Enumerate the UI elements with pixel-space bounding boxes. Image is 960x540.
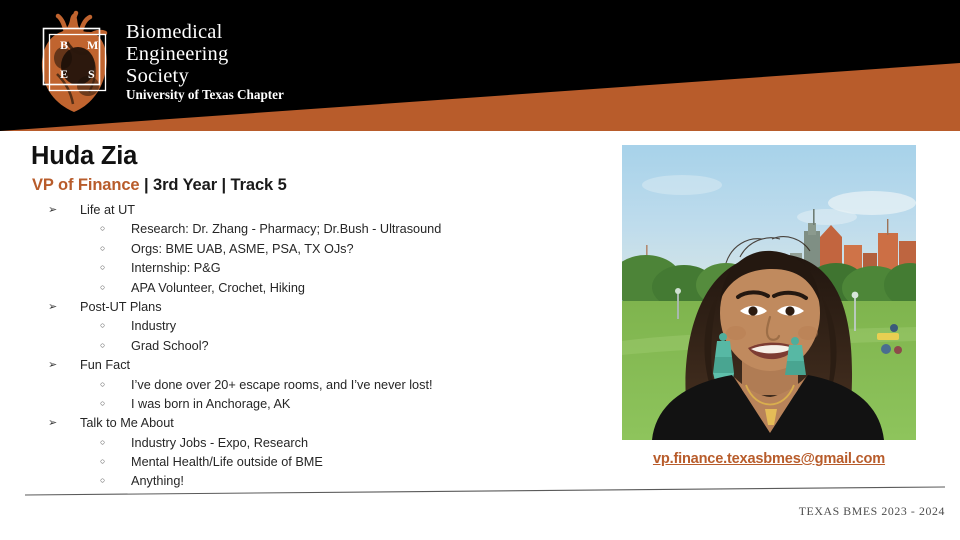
circle-bullet-icon: ○ [100, 282, 131, 292]
list-item-label: Post-UT Plans [80, 300, 162, 314]
anatomical-heart-logo-icon: B M E S [33, 8, 115, 120]
list-item-label: I was born in Anchorage, AK [131, 397, 290, 411]
bmes-logo: B M E S Biomedical Engineering Society U… [33, 8, 323, 120]
list-item: ○ Internship: P&G [48, 261, 588, 280]
circle-bullet-icon: ○ [100, 262, 131, 272]
list-item: ➢ Fun Fact [48, 358, 588, 377]
logo-letter-m: M [87, 38, 98, 52]
list-item-label: Talk to Me About [80, 416, 174, 430]
circle-bullet-icon: ○ [100, 456, 131, 466]
header-band: B M E S Biomedical Engineering Society U… [0, 0, 960, 131]
list-item: ○ Grad School? [48, 339, 588, 358]
circle-bullet-icon: ○ [100, 398, 131, 408]
circle-bullet-icon: ○ [100, 379, 131, 389]
bullet-list: ➢ Life at UT ○ Research: Dr. Zhang - Pha… [48, 203, 588, 494]
circle-bullet-icon: ○ [100, 340, 131, 350]
logo-line-3: Society [126, 65, 284, 87]
list-item-label: Orgs: BME UAB, ASME, PSA, TX OJs? [131, 242, 354, 256]
circle-bullet-icon: ○ [100, 243, 131, 253]
list-item: ○ I was born in Anchorage, AK [48, 397, 588, 416]
logo-letter-b: B [60, 38, 68, 52]
portrait-photo [622, 145, 916, 440]
list-item-label: Life at UT [80, 203, 135, 217]
list-item-label: Research: Dr. Zhang - Pharmacy; Dr.Bush … [131, 222, 441, 236]
logo-letter-e: E [60, 67, 68, 81]
logo-wordmark: Biomedical Engineering Society Universit… [126, 21, 284, 103]
list-item-label: Industry [131, 319, 176, 333]
logo-subtitle: University of Texas Chapter [126, 88, 284, 102]
person-role-rest: | 3rd Year | Track 5 [140, 176, 287, 194]
list-item: ○ I’ve done over 20+ escape rooms, and I… [48, 378, 588, 397]
list-item-label: Industry Jobs - Expo, Research [131, 436, 308, 450]
list-item-label: Mental Health/Life outside of BME [131, 455, 323, 469]
circle-bullet-icon: ○ [100, 223, 131, 233]
list-item: ➢ Talk to Me About [48, 416, 588, 435]
circle-bullet-icon: ○ [100, 437, 131, 447]
list-item: ○ Mental Health/Life outside of BME [48, 455, 588, 474]
list-item: ➢ Post-UT Plans [48, 300, 588, 319]
list-item-label: APA Volunteer, Crochet, Hiking [131, 281, 305, 295]
arrow-bullet-icon: ➢ [48, 416, 80, 429]
list-item-label: I’ve done over 20+ escape rooms, and I’v… [131, 378, 433, 392]
logo-line-1: Biomedical [126, 21, 284, 43]
person-role-accent: VP of Finance [32, 176, 140, 194]
footer-divider [25, 483, 945, 493]
list-item-label: Fun Fact [80, 358, 130, 372]
person-role-line: VP of Finance | 3rd Year | Track 5 [32, 176, 287, 195]
arrow-bullet-icon: ➢ [48, 358, 80, 371]
circle-bullet-icon: ○ [100, 320, 131, 330]
footer-label: TEXAS BMES 2023 - 2024 [600, 504, 945, 519]
logo-letter-s: S [88, 67, 95, 81]
list-item: ○ APA Volunteer, Crochet, Hiking [48, 281, 588, 300]
list-item-label: Internship: P&G [131, 261, 221, 275]
list-item-label: Grad School? [131, 339, 209, 353]
list-item: ○ Orgs: BME UAB, ASME, PSA, TX OJs? [48, 242, 588, 261]
page-title: Huda Zia [31, 142, 137, 171]
list-item: ○ Research: Dr. Zhang - Pharmacy; Dr.Bus… [48, 222, 588, 241]
arrow-bullet-icon: ➢ [48, 300, 80, 313]
email-link[interactable]: vp.finance.texasbmes@gmail.com [622, 451, 916, 467]
list-item: ○ Industry Jobs - Expo, Research [48, 436, 588, 455]
logo-line-2: Engineering [126, 43, 284, 65]
list-item: ➢ Life at UT [48, 203, 588, 222]
list-item: ○ Industry [48, 319, 588, 338]
arrow-bullet-icon: ➢ [48, 203, 80, 216]
